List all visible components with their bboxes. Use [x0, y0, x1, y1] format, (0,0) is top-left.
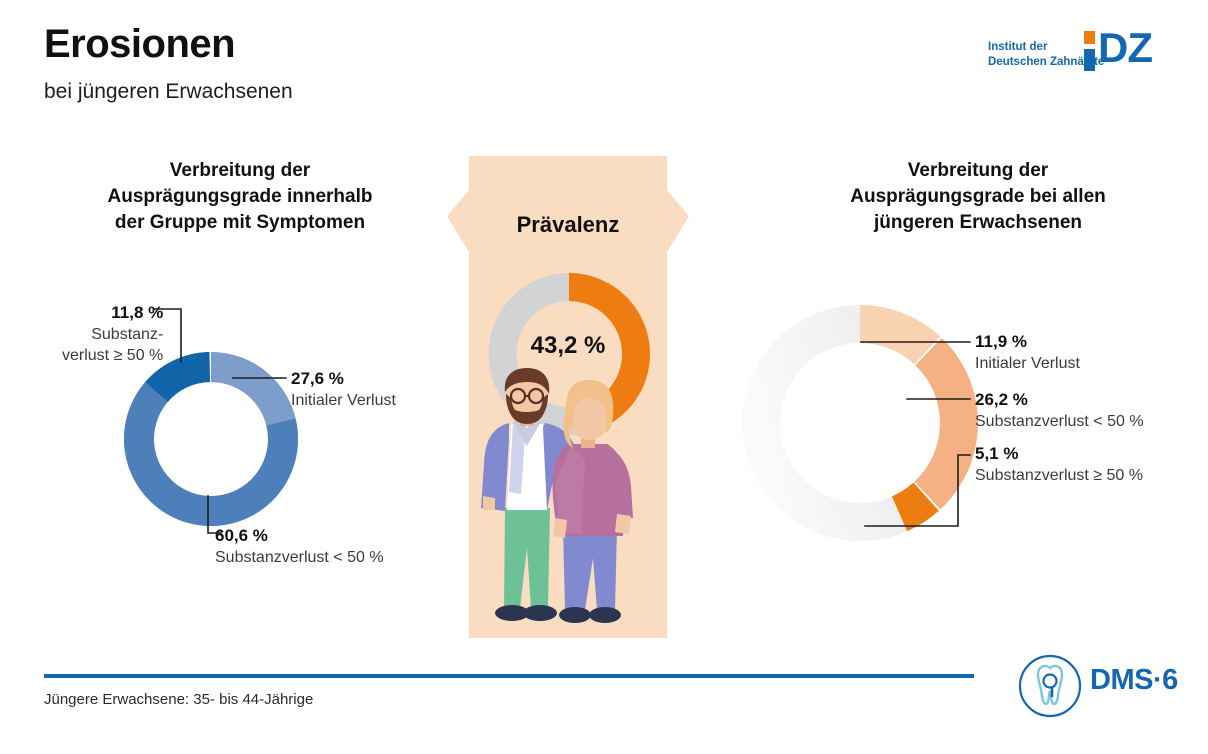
left-callout-under50: 60,6 % Substanzverlust < 50 %	[215, 525, 384, 568]
right-chart-title-line2: Ausprägungsgrade bei allen	[778, 184, 1178, 210]
infographic-page: Erosionen bei jüngeren Erwachsenen Insti…	[0, 0, 1208, 754]
left-callout-initial-value: 27,6 %	[291, 368, 396, 390]
right-chart-title-line3: jüngeren Erwachsenen	[778, 210, 1178, 236]
idz-logo-dz-letters: DZ	[1098, 24, 1152, 72]
idz-logo: Institut der Deutschen Zahnärzte DZ	[988, 30, 1168, 84]
page-title: Erosionen	[44, 22, 235, 67]
left-callout-initial-desc: Initialer Verlust	[291, 390, 396, 411]
left-callout-over50: 11,8 % Substanz- verlust ≥ 50 %	[62, 302, 163, 366]
right-callout-initial: 11,9 % Initialer Verlust	[975, 331, 1080, 374]
right-callout-over50-value: 5,1 %	[975, 443, 1143, 465]
idz-logo-mark: DZ	[1084, 30, 1168, 76]
right-donut-segment-substanzverlust-unter50	[914, 338, 978, 510]
idz-logo-wordmark: Institut der Deutschen Zahnärzte	[988, 40, 1084, 70]
right-chart-title: Verbreitung der Ausprägungsgrade bei all…	[778, 158, 1178, 236]
left-donut-chart	[110, 338, 312, 540]
dms-logo: DMS·6	[1012, 650, 1172, 724]
dms-logo-magnifier-icon	[1044, 675, 1057, 688]
right-callout-over50: 5,1 % Substanzverlust ≥ 50 %	[975, 443, 1143, 486]
idz-logo-i-top-icon	[1084, 31, 1095, 44]
right-donut-chart	[742, 292, 978, 554]
right-callout-initial-value: 11,9 %	[975, 331, 1080, 353]
left-chart-title-line1: Verbreitung der	[40, 158, 440, 184]
right-chart-title-line1: Verbreitung der	[778, 158, 1178, 184]
left-callout-initial: 27,6 % Initialer Verlust	[291, 368, 396, 411]
dms-logo-circle-icon	[1020, 656, 1080, 716]
right-callout-under50-desc: Substanzverlust < 50 %	[975, 411, 1144, 432]
right-callout-under50-value: 26,2 %	[975, 389, 1144, 411]
left-callout-under50-value: 60,6 %	[215, 525, 384, 547]
left-callout-over50-value: 11,8 %	[62, 302, 163, 324]
dms-logo-text: DMS·6	[1090, 664, 1178, 697]
prevalence-banner-shape	[447, 156, 689, 638]
left-chart-title-line3: der Gruppe mit Symptomen	[40, 210, 440, 236]
idz-logo-line1: Institut der	[988, 40, 1084, 55]
right-callout-over50-desc: Substanzverlust ≥ 50 %	[975, 465, 1143, 486]
page-subtitle: bei jüngeren Erwachsenen	[44, 80, 293, 104]
right-callout-initial-desc: Initialer Verlust	[975, 353, 1080, 374]
left-chart-title-line2: Ausprägungsgrade innerhalb	[40, 184, 440, 210]
right-callout-under50: 26,2 % Substanzverlust < 50 %	[975, 389, 1144, 432]
idz-logo-i-bottom-icon	[1084, 49, 1095, 71]
left-callout-over50-desc-line1: Substanz-	[62, 324, 163, 345]
left-callout-under50-desc: Substanzverlust < 50 %	[215, 547, 384, 568]
footer-divider	[44, 674, 974, 678]
left-chart-title: Verbreitung der Ausprägungsgrade innerha…	[40, 158, 440, 236]
left-callout-over50-desc-line2: verlust ≥ 50 %	[62, 345, 163, 366]
idz-logo-line2: Deutschen Zahnärzte	[988, 55, 1084, 70]
dms-logo-tooth-icon	[1038, 666, 1062, 704]
banner-arrow-background	[447, 156, 689, 638]
footer-note: Jüngere Erwachsene: 35- bis 44-Jährige	[44, 691, 313, 708]
